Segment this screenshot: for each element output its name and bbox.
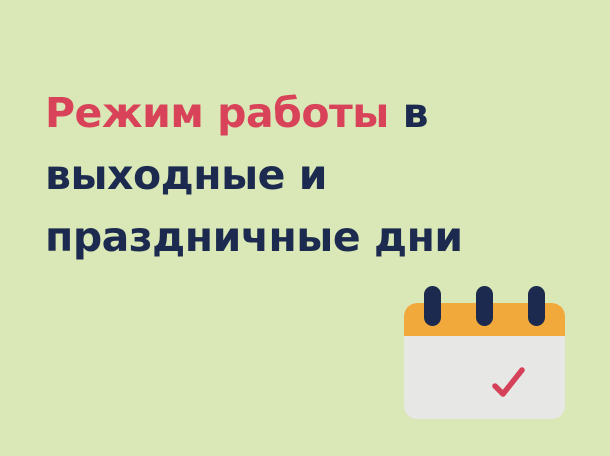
page-title: Режим работы в выходные и праздничные дн… — [45, 82, 565, 268]
headline-line-3: праздничные дни — [45, 206, 565, 268]
headline-plain-text-2: выходные и — [45, 151, 327, 199]
headline-plain-text-3: праздничные дни — [45, 213, 463, 261]
calendar-icon — [404, 286, 565, 419]
calendar-ring-icon — [528, 286, 545, 326]
headline-accent-text: Режим работы — [45, 89, 389, 137]
headline-line-2: выходные и — [45, 144, 565, 206]
calendar-ring-icon — [476, 286, 493, 326]
headline-plain-text-1: в — [389, 89, 428, 137]
calendar-ring-icon — [424, 286, 441, 326]
calendar-rings-group — [404, 286, 565, 326]
poster-canvas: Режим работы в выходные и праздничные дн… — [0, 0, 610, 456]
headline-line-1: Режим работы в — [45, 82, 565, 144]
